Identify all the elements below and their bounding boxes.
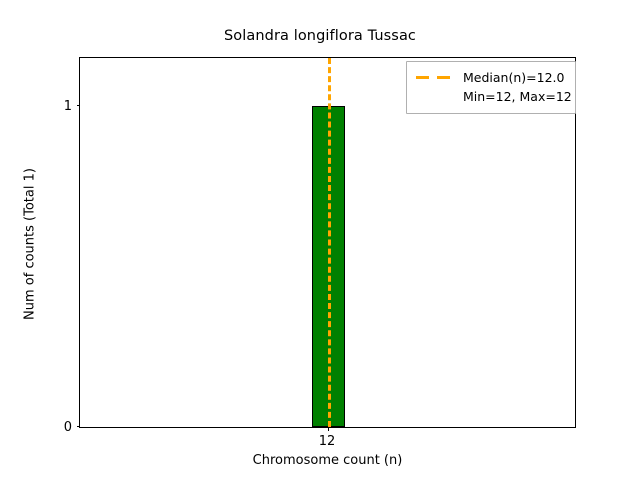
xtick-label-12: 12 <box>292 434 362 449</box>
legend-label-minmax: Min=12, Max=12 <box>463 87 572 106</box>
ytick-mark-1 <box>77 105 81 106</box>
ylabel-wrap: Num of counts (Total 1) <box>18 58 42 429</box>
chart-title: Solandra longiflora Tussac <box>0 28 640 44</box>
x-axis-label: Chromosome count (n) <box>79 453 576 468</box>
chart-figure: Solandra longiflora Tussac 0 1 Num of co… <box>0 0 640 480</box>
xtick-mark-12 <box>328 427 329 431</box>
ytick-mark-0 <box>77 426 81 427</box>
y-axis-label: Num of counts (Total 1) <box>23 168 38 320</box>
median-line <box>328 58 331 427</box>
legend-entry-minmax: Min=12, Max=12 <box>415 87 567 106</box>
legend-label-median: Median(n)=12.0 <box>463 68 564 87</box>
legend-entry-median: Median(n)=12.0 <box>415 68 567 87</box>
legend: Median(n)=12.0 Min=12, Max=12 <box>406 61 576 114</box>
legend-dashed-line-icon <box>415 72 455 84</box>
